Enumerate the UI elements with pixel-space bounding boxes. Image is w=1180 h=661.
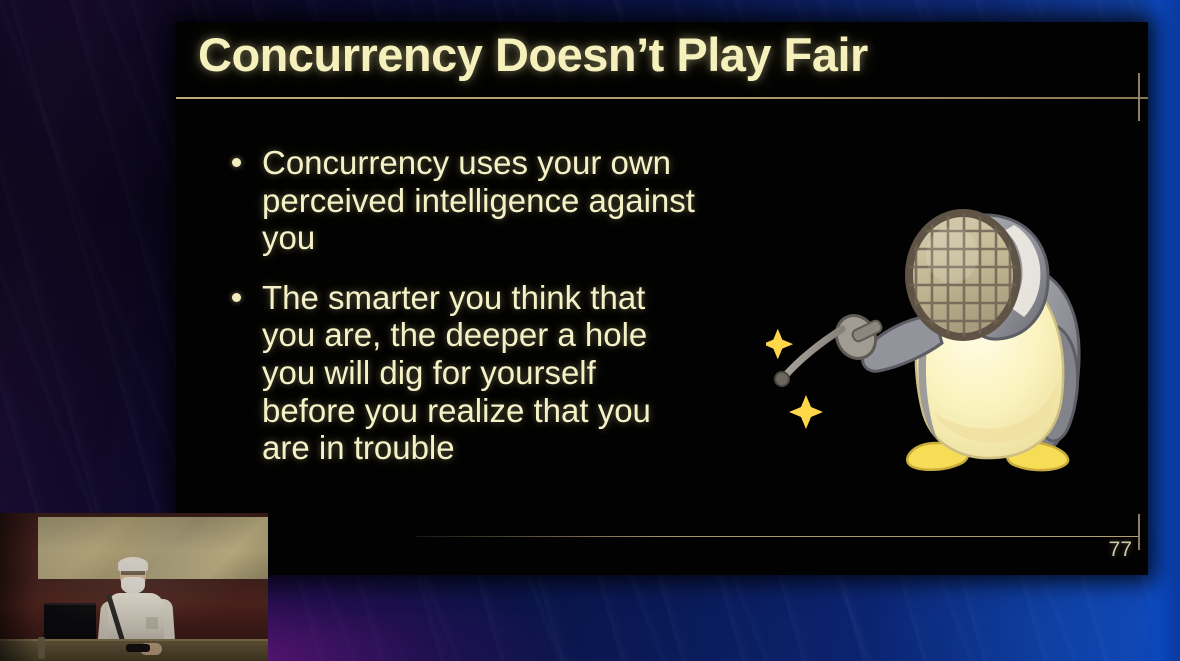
speaker-video-overlay[interactable] (0, 513, 268, 661)
presentation-slide: Concurrency Doesn’t Play Fair Concurrenc… (176, 22, 1148, 575)
screenshot-root: Concurrency Doesn’t Play Fair Concurrenc… (0, 0, 1180, 661)
bullet-dot-icon (232, 158, 241, 167)
sparkle-icon (789, 395, 823, 429)
list-item: Concurrency uses your own perceived inte… (228, 144, 698, 257)
foil-blade (784, 329, 842, 377)
fencing-mask-glint (926, 227, 978, 283)
fencing-penguin-illustration (766, 197, 1106, 487)
footer-rule (416, 536, 1138, 537)
title-corner-tick (1138, 73, 1140, 121)
bullet-text: Concurrency uses your own perceived inte… (262, 144, 695, 256)
bullet-dot-icon (232, 293, 241, 302)
foil-tip-button (775, 372, 789, 386)
page-number: 77 (1056, 538, 1132, 562)
video-grade-overlay (0, 513, 268, 661)
bullet-text: The smarter you think that you are, the … (262, 279, 651, 466)
slide-title: Concurrency Doesn’t Play Fair (198, 30, 868, 79)
footer-corner-tick (1138, 514, 1140, 550)
sparkle-icon (766, 329, 793, 360)
title-underline (176, 97, 1148, 99)
list-item: The smarter you think that you are, the … (228, 279, 698, 467)
slide-bullet-list: Concurrency uses your own perceived inte… (228, 144, 698, 489)
